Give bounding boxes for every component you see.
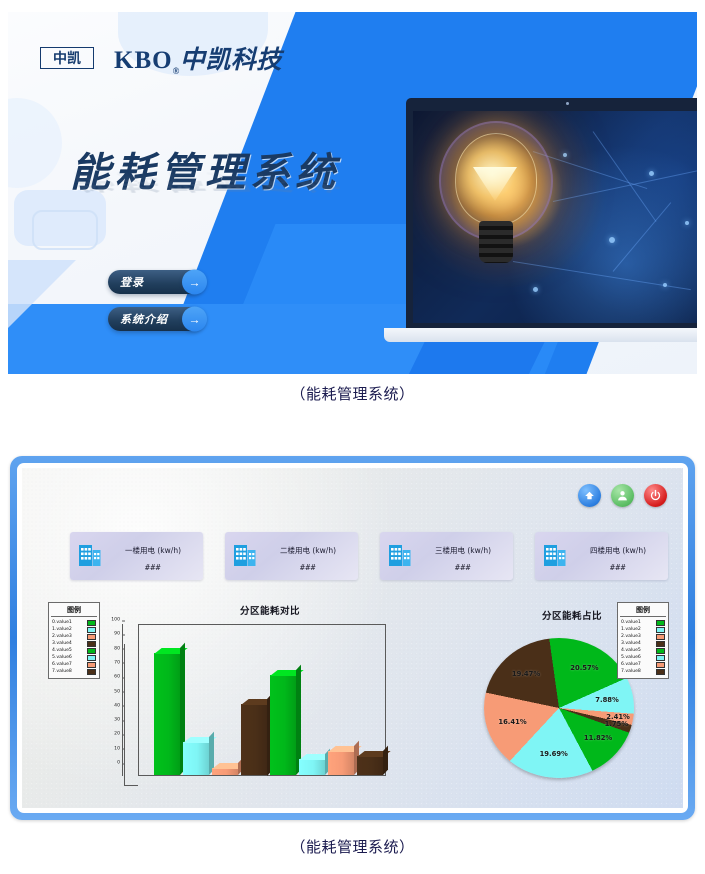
- legend-swatch: [656, 655, 665, 661]
- kpi-value: ###: [264, 563, 352, 572]
- brand-mark-label: 中凯: [30, 43, 104, 73]
- kpi-label: 三楼用电 (kw/h): [435, 546, 491, 555]
- figure-caption-1: （能耗管理系统）: [0, 383, 705, 404]
- bar-column[interactable]: [241, 704, 267, 776]
- legend-item-label: 6.value7: [52, 662, 72, 667]
- laptop-screen: [413, 111, 697, 323]
- brand-kbo-text: KBO: [114, 47, 173, 74]
- legend-swatch: [87, 669, 96, 675]
- y-axis-tick-label: 40: [114, 703, 122, 708]
- y-axis-tick-label: 60: [114, 675, 122, 680]
- power-icon[interactable]: [644, 484, 667, 507]
- legend-item: 6.value7: [51, 661, 97, 668]
- figure-caption-2: （能耗管理系统）: [0, 836, 705, 857]
- bar-chart-legend: 图例 0.value11.value22.value33.value44.val…: [48, 602, 100, 679]
- hero-banner: 中凯 KBO®中凯科技 能耗管理系统 能耗管理系统 登录 → 系统介绍: [8, 12, 697, 374]
- user-icon[interactable]: [611, 484, 634, 507]
- legend-swatch: [87, 627, 96, 633]
- legend-swatch: [656, 669, 665, 675]
- legend-item: 5.value6: [51, 654, 97, 661]
- legend-swatch: [656, 641, 665, 647]
- kpi-card-floor3[interactable]: 三楼用电 (kw/h) ###: [380, 532, 513, 580]
- legend-item-label: 1.value2: [52, 627, 72, 632]
- decorative-shape: [8, 98, 62, 188]
- laptop-camera-icon: [566, 102, 569, 105]
- y-axis-tick-label: 20: [114, 732, 122, 737]
- legend-item: 1.value2: [51, 626, 97, 633]
- hero-figure: 中凯 KBO®中凯科技 能耗管理系统 能耗管理系统 登录 → 系统介绍: [8, 12, 697, 374]
- brand-logo: 中凯 KBO®中凯科技: [30, 40, 282, 76]
- login-button[interactable]: 登录 →: [108, 270, 204, 294]
- kpi-card-floor2[interactable]: 二楼用电 (kw/h) ###: [225, 532, 358, 580]
- bar-chart-floor-edge: [124, 785, 138, 786]
- legend-item: 2.value3: [51, 633, 97, 640]
- legend-item-label: 2.value3: [621, 634, 641, 639]
- hero-action-buttons: 登录 → 系统介绍 →: [108, 270, 204, 331]
- pie-slice-label: 19.47%: [512, 670, 540, 678]
- arrow-right-icon: →: [182, 270, 207, 295]
- dashboard-figure: 一楼用电 (kw/h) ###: [10, 456, 695, 820]
- legend-item: 0.value1: [620, 619, 666, 626]
- legend-item-label: 2.value3: [52, 634, 72, 639]
- legend-item-label: 5.value6: [621, 655, 641, 660]
- legend-swatch: [87, 655, 96, 661]
- legend-swatch: [87, 662, 96, 668]
- pie-slice-label: 19.69%: [540, 750, 568, 758]
- legend-item: 7.value8: [51, 668, 97, 675]
- building-icon: [388, 541, 412, 572]
- building-icon: [233, 541, 257, 572]
- legend-swatch: [87, 641, 96, 647]
- pie-slice-label: 1.75%: [605, 720, 629, 728]
- kpi-label: 一楼用电 (kw/h): [125, 546, 181, 555]
- legend-swatch: [656, 634, 665, 640]
- home-icon[interactable]: [578, 484, 601, 507]
- legend-swatch: [87, 634, 96, 640]
- bar-column[interactable]: [154, 653, 180, 775]
- kpi-value: ###: [574, 563, 662, 572]
- hero-wedge-decor-3: [8, 304, 438, 374]
- legend-item: 5.value6: [620, 654, 666, 661]
- login-button-label: 登录: [120, 274, 144, 290]
- kpi-value: ###: [109, 563, 197, 572]
- legend-item-label: 0.value1: [621, 620, 641, 625]
- bar-chart-depth-edge: [124, 644, 138, 786]
- legend-item-label: 7.value8: [621, 669, 641, 674]
- legend-item-label: 5.value6: [52, 655, 72, 660]
- bar-column[interactable]: [299, 759, 325, 775]
- dashboard-frame: 一楼用电 (kw/h) ###: [17, 463, 688, 813]
- laptop-lid: [406, 98, 697, 328]
- charts-area: 图例 0.value11.value22.value33.value44.val…: [22, 600, 683, 808]
- legend-item-label: 3.value4: [621, 641, 641, 646]
- legend-item: 4.value5: [51, 647, 97, 654]
- legend-item-label: 0.value1: [52, 620, 72, 625]
- legend-item-label: 6.value7: [621, 662, 641, 667]
- kbo-diamond-icon: 中凯: [30, 43, 104, 73]
- page-root: 中凯 KBO®中凯科技 能耗管理系统 能耗管理系统 登录 → 系统介绍: [0, 0, 705, 874]
- lightbulb-icon: [447, 133, 545, 263]
- legend-title: 图例: [51, 605, 97, 617]
- y-axis-tick-label: 30: [114, 718, 122, 723]
- legend-item: 3.value4: [620, 640, 666, 647]
- legend-swatch: [87, 620, 96, 626]
- bar-chart-x-axis: [138, 775, 386, 776]
- kpi-value: ###: [419, 563, 507, 572]
- y-axis-tick-label: 100: [111, 618, 122, 623]
- system-intro-button[interactable]: 系统介绍 →: [108, 307, 204, 331]
- bar-column[interactable]: [212, 768, 238, 775]
- laptop-base: [384, 328, 697, 342]
- legend-swatch: [656, 648, 665, 654]
- bar-series: [152, 625, 384, 775]
- legend-item: 6.value7: [620, 661, 666, 668]
- dashboard-toolbar: [578, 484, 667, 507]
- pie-slice-label: 11.82%: [584, 734, 612, 742]
- kpi-label: 四楼用电 (kw/h): [590, 546, 646, 555]
- building-icon: [78, 541, 102, 572]
- legend-item: 1.value2: [620, 626, 666, 633]
- pie-slice-label: 16.41%: [498, 718, 526, 726]
- bar-chart-y-axis: 0102030405060708090100: [122, 624, 123, 776]
- y-axis-tick-label: 90: [114, 632, 122, 637]
- y-axis-tick-label: 0: [117, 761, 122, 766]
- hero-title-block: 能耗管理系统 能耗管理系统: [70, 140, 340, 258]
- pie-chart-legend: 图例 0.value11.value22.value33.value44.val…: [617, 602, 669, 679]
- legend-swatch: [656, 662, 665, 668]
- legend-item: 7.value8: [620, 668, 666, 675]
- arrow-right-icon: →: [182, 307, 207, 332]
- pie-slice-label: 7.88%: [595, 696, 619, 704]
- y-axis-tick-label: 70: [114, 660, 122, 665]
- laptop-illustration: [406, 98, 697, 328]
- pie-chart-title: 分区能耗占比: [542, 608, 602, 622]
- legend-item-label: 4.value5: [621, 648, 641, 653]
- legend-item-label: 1.value2: [621, 627, 641, 632]
- y-axis-tick-label: 50: [114, 689, 122, 694]
- kpi-card-floor4[interactable]: 四楼用电 (kw/h) ###: [535, 532, 668, 580]
- system-intro-button-label: 系统介绍: [120, 311, 168, 327]
- legend-swatch: [87, 648, 96, 654]
- legend-item-label: 3.value4: [52, 641, 72, 646]
- legend-swatch: [656, 627, 665, 633]
- kpi-label: 二楼用电 (kw/h): [280, 546, 336, 555]
- y-axis-tick-label: 80: [114, 646, 122, 651]
- brand-registered-icon: ®: [173, 66, 180, 76]
- bar-column[interactable]: [357, 756, 383, 775]
- legend-swatch: [656, 620, 665, 626]
- kpi-card-floor1[interactable]: 一楼用电 (kw/h) ###: [70, 532, 203, 580]
- legend-item-label: 7.value8: [52, 669, 72, 674]
- building-icon: [543, 541, 567, 572]
- bar-column[interactable]: [270, 675, 296, 775]
- bar-column[interactable]: [328, 751, 354, 775]
- bar-chart[interactable]: 0102030405060708090100: [106, 618, 394, 802]
- bar-chart-title: 分区能耗对比: [240, 603, 300, 617]
- legend-item: 2.value3: [620, 633, 666, 640]
- brand-cn-text: 中凯科技: [180, 45, 282, 74]
- legend-title: 图例: [620, 605, 666, 617]
- bar-column[interactable]: [183, 742, 209, 775]
- legend-item-label: 4.value5: [52, 648, 72, 653]
- legend-item: 0.value1: [51, 619, 97, 626]
- y-axis-tick-label: 10: [114, 746, 122, 751]
- legend-item: 3.value4: [51, 640, 97, 647]
- brand-wordmark: KBO®中凯科技: [114, 40, 282, 76]
- pie-slice-label: 20.57%: [570, 664, 598, 672]
- dashboard-canvas: 一楼用电 (kw/h) ###: [22, 468, 683, 808]
- hero-title-reflection: 能耗管理系统: [70, 164, 340, 200]
- legend-item: 4.value5: [620, 647, 666, 654]
- kpi-card-row: 一楼用电 (kw/h) ###: [70, 532, 670, 580]
